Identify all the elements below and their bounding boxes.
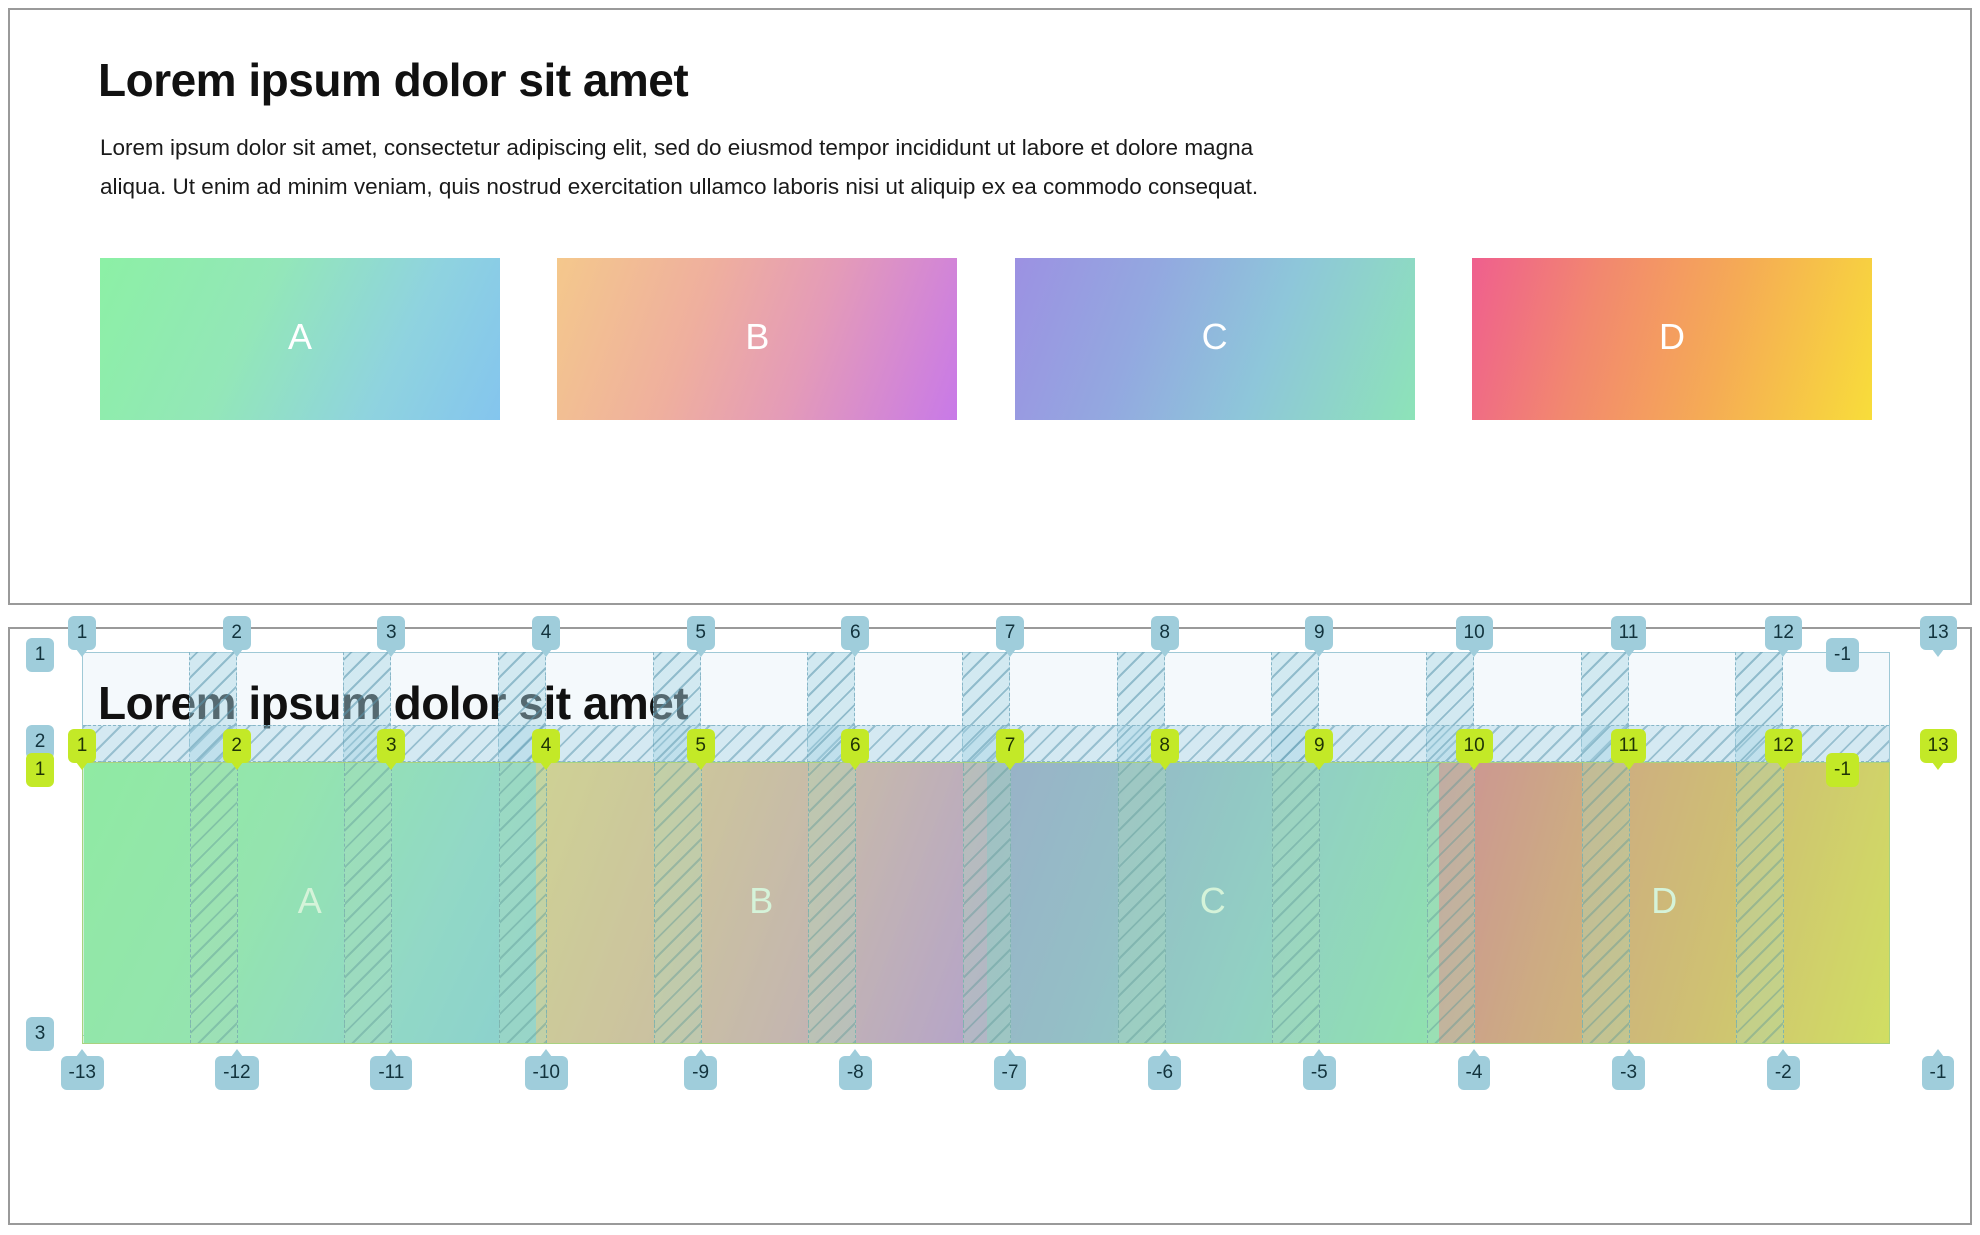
outer-column-line-badge--12[interactable]: -12 (215, 1056, 258, 1090)
gradient-box-c: C (1015, 258, 1415, 420)
inner-grid-column-gap (654, 763, 702, 1043)
outer-column-line-badge--1[interactable]: -1 (1922, 1056, 1955, 1090)
outer-column-line-badge-2[interactable]: 2 (223, 616, 251, 650)
gradient-box-c-label: C (1202, 316, 1228, 358)
inner-grid-column-gap (1272, 763, 1320, 1043)
grid-inspector-panel: Lorem ipsum dolor sit amet Lorem ipsum d… (8, 627, 1972, 1225)
inner-grid-container (82, 762, 1890, 1044)
inner-row-line-badge-1[interactable]: 1 (26, 753, 54, 787)
outer-column-line-badge-6[interactable]: 6 (841, 616, 869, 650)
outer-column-line-badge-5[interactable]: 5 (687, 616, 715, 650)
outer-row-line-badge-1[interactable]: 1 (26, 638, 54, 672)
outer-row-line-badge-3[interactable]: 3 (26, 1017, 54, 1051)
inner-column-line-badge-7[interactable]: 7 (996, 729, 1024, 763)
gradient-box-a: A (100, 258, 500, 420)
outer-column-line-badge--2[interactable]: -2 (1767, 1056, 1800, 1090)
inner-column-line-badge-3[interactable]: 3 (377, 729, 405, 763)
page-title: Lorem ipsum dolor sit amet (98, 53, 688, 107)
inner-column-line-badge-9[interactable]: 9 (1305, 729, 1333, 763)
outer-column-line-badge-13[interactable]: 13 (1920, 616, 1957, 650)
inner-grid-column-gap (1427, 763, 1475, 1043)
outer-column-line-badge--8[interactable]: -8 (839, 1056, 872, 1090)
gradient-box-b: B (557, 258, 957, 420)
outer-column-line-badge-9[interactable]: 9 (1305, 616, 1333, 650)
outer-column-line-badge-7[interactable]: 7 (996, 616, 1024, 650)
inner-grid-column-gap (1736, 763, 1784, 1043)
outer-column-line-badge-10[interactable]: 10 (1456, 616, 1493, 650)
outer-column-line-badge--10[interactable]: -10 (525, 1056, 568, 1090)
outer-column-line-badge--5[interactable]: -5 (1303, 1056, 1336, 1090)
inner-grid-column-gap (344, 763, 392, 1043)
inner-column-line-badge-11[interactable]: 11 (1611, 729, 1647, 763)
inner-column-line-badge-2[interactable]: 2 (223, 729, 251, 763)
outer-row-line-badge-neg1[interactable]: -1 (1826, 638, 1859, 672)
outer-column-line-badge-3[interactable]: 3 (377, 616, 405, 650)
gradient-box-d: D (1472, 258, 1872, 420)
page-title-grid: Lorem ipsum dolor sit amet (98, 676, 688, 730)
inner-column-line-badge-1[interactable]: 1 (68, 729, 96, 763)
outer-column-line-badge--11[interactable]: -11 (370, 1056, 412, 1090)
gradient-box-d-label: D (1659, 316, 1685, 358)
inner-column-line-badge-12[interactable]: 12 (1765, 729, 1802, 763)
outer-column-line-badge-1[interactable]: 1 (68, 616, 96, 650)
document-content-plain: Lorem ipsum dolor sit amet Lorem ipsum d… (10, 10, 1970, 603)
outer-column-line-badge-8[interactable]: 8 (1151, 616, 1179, 650)
outer-column-line-badge-11[interactable]: 11 (1611, 616, 1647, 650)
grid-overlay-stage: Lorem ipsum dolor sit amet Lorem ipsum d… (10, 629, 1970, 1223)
inner-column-line-badge-5[interactable]: 5 (687, 729, 715, 763)
inner-grid-column-gap (1582, 763, 1630, 1043)
outer-column-line-badge--13[interactable]: -13 (61, 1056, 104, 1090)
outer-column-line-badge--3[interactable]: -3 (1612, 1056, 1645, 1090)
inner-grid-column-gap (190, 763, 238, 1043)
inner-grid-column-gap (1118, 763, 1166, 1043)
outer-column-line-badge--4[interactable]: -4 (1458, 1056, 1491, 1090)
gradient-box-b-label: B (745, 316, 769, 358)
gradient-box-row: A B C D (100, 258, 1872, 420)
inner-column-line-badge-4[interactable]: 4 (532, 729, 560, 763)
outer-column-line-badge--7[interactable]: -7 (994, 1056, 1027, 1090)
inner-column-line-badge-8[interactable]: 8 (1151, 729, 1179, 763)
inner-grid-column-gap (808, 763, 856, 1043)
outer-column-line-badge--9[interactable]: -9 (684, 1056, 717, 1090)
inner-row-line-badge-neg1[interactable]: -1 (1826, 753, 1859, 787)
outer-column-line-badge-4[interactable]: 4 (532, 616, 560, 650)
inner-grid-column-gap (499, 763, 547, 1043)
plain-preview-panel: Lorem ipsum dolor sit amet Lorem ipsum d… (8, 8, 1972, 605)
inner-column-line-badge-6[interactable]: 6 (841, 729, 869, 763)
gradient-box-a-label: A (288, 316, 312, 358)
inner-column-line-badge-13[interactable]: 13 (1920, 729, 1957, 763)
inner-column-line-badge-10[interactable]: 10 (1456, 729, 1493, 763)
outer-column-line-badge--6[interactable]: -6 (1148, 1056, 1181, 1090)
outer-column-line-badge-12[interactable]: 12 (1765, 616, 1802, 650)
screenshot-root: Lorem ipsum dolor sit amet Lorem ipsum d… (0, 0, 1980, 1235)
body-paragraph: Lorem ipsum dolor sit amet, consectetur … (100, 128, 1285, 206)
inner-grid-column-gap (963, 763, 1011, 1043)
